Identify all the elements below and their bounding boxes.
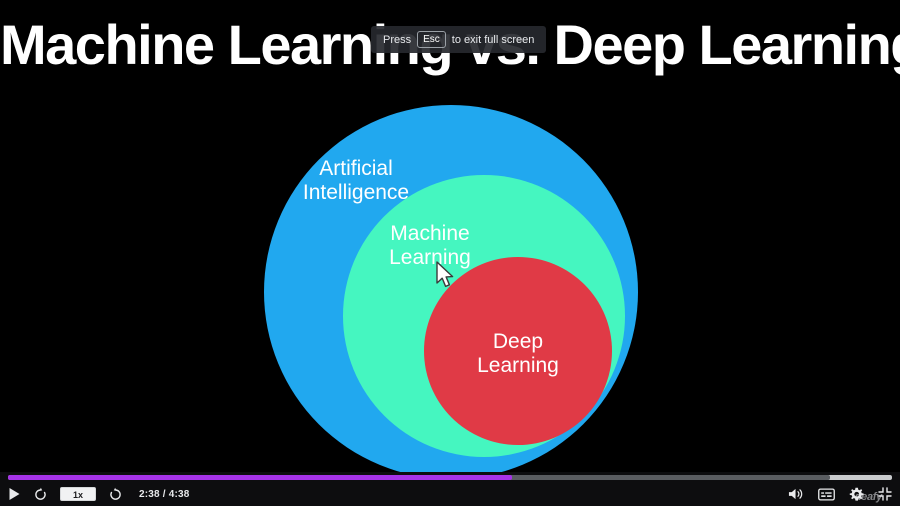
gear-icon	[849, 487, 864, 502]
volume-icon	[788, 487, 804, 501]
progress-bar-track[interactable]	[8, 475, 892, 480]
video-player: Artificial Intelligence Machine Learning…	[0, 0, 900, 506]
exit-fullscreen-icon	[878, 487, 892, 501]
hint-suffix-text: to exit full screen	[452, 34, 535, 46]
label-artificial-intelligence: Artificial Intelligence	[288, 157, 424, 204]
label-deep-learning: Deep Learning	[462, 330, 574, 377]
exit-fullscreen-button[interactable]	[878, 487, 892, 501]
player-controls-bar: 1x 2:38 / 4:38	[0, 472, 900, 506]
esc-key-badge: Esc	[417, 31, 446, 48]
playback-speed-button[interactable]: 1x	[60, 487, 96, 501]
play-icon	[8, 487, 21, 501]
progress-played	[8, 475, 512, 480]
rewind-10-icon	[33, 487, 48, 502]
controls-row: 1x 2:38 / 4:38	[0, 482, 900, 506]
rewind-button[interactable]	[33, 487, 48, 502]
captions-icon	[818, 488, 835, 501]
hint-prefix-text: Press	[383, 34, 411, 46]
time-display: 2:38 / 4:38	[139, 489, 190, 500]
settings-button[interactable]	[849, 487, 864, 502]
play-button[interactable]	[8, 487, 21, 501]
label-machine-learning: Machine Learning	[372, 222, 488, 269]
forward-10-icon	[108, 487, 123, 502]
exit-fullscreen-hint: Press Esc to exit full screen	[371, 26, 546, 53]
controls-left-group: 1x 2:38 / 4:38	[0, 487, 190, 502]
forward-button[interactable]	[108, 487, 123, 502]
video-frame[interactable]: Artificial Intelligence Machine Learning…	[0, 0, 900, 506]
controls-right-group	[788, 487, 900, 502]
captions-button[interactable]	[818, 488, 835, 501]
volume-button[interactable]	[788, 487, 804, 501]
